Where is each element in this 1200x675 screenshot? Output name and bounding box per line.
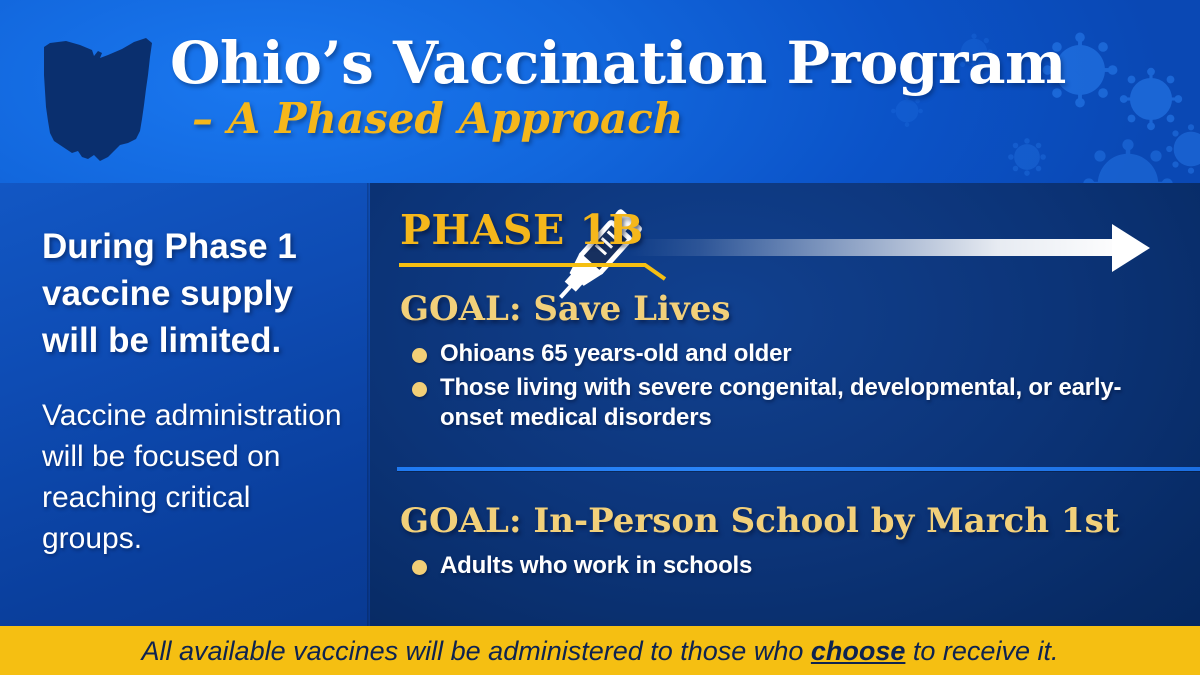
list-item: Adults who work in schools (400, 551, 1180, 581)
goal-heading-1: GOAL: Save Lives (400, 289, 731, 329)
phase-label: PHASE 1B (400, 207, 644, 253)
ohio-state-map-icon (36, 27, 160, 169)
footer-text-after: to receive it. (905, 636, 1058, 666)
footer-text-before: All available vaccines will be administe… (142, 636, 811, 666)
list-item: Ohioans 65 years-old and older (400, 339, 1180, 369)
footer-banner: All available vaccines will be administe… (0, 626, 1200, 675)
supply-description: Vaccine administration will be focused o… (42, 395, 342, 559)
virus-particle-icon (1160, 118, 1200, 180)
page-subtitle: – A Phased Approach (192, 93, 1120, 145)
arrow-shaft (630, 239, 1128, 256)
page-title: Ohio’s Vaccination Program (170, 31, 1120, 95)
arrow-head (1112, 224, 1150, 272)
footer-message: All available vaccines will be administe… (142, 636, 1059, 666)
list-item: Those living with severe congenital, dev… (400, 373, 1180, 433)
footer-emphasis: choose (811, 636, 906, 666)
goal-bullets-2: Adults who work in schools (400, 551, 1180, 585)
vaccination-phase-infographic: Ohio’s Vaccination Program – A Phased Ap… (0, 0, 1200, 675)
content-area: During Phase 1 vaccine supply will be li… (0, 183, 1200, 626)
section-divider (397, 467, 1200, 471)
header-banner: Ohio’s Vaccination Program – A Phased Ap… (0, 0, 1200, 183)
goal-heading-2: GOAL: In-Person School by March 1st (400, 501, 1119, 541)
phase-detail-panel: PHASE 1B GOAL: Save Lives Ohioans 65 yea… (370, 183, 1200, 626)
phase-underline (397, 259, 687, 283)
header-title-block: Ohio’s Vaccination Program – A Phased Ap… (170, 31, 1120, 145)
goal-bullets-1: Ohioans 65 years-old and older Those liv… (400, 339, 1180, 437)
